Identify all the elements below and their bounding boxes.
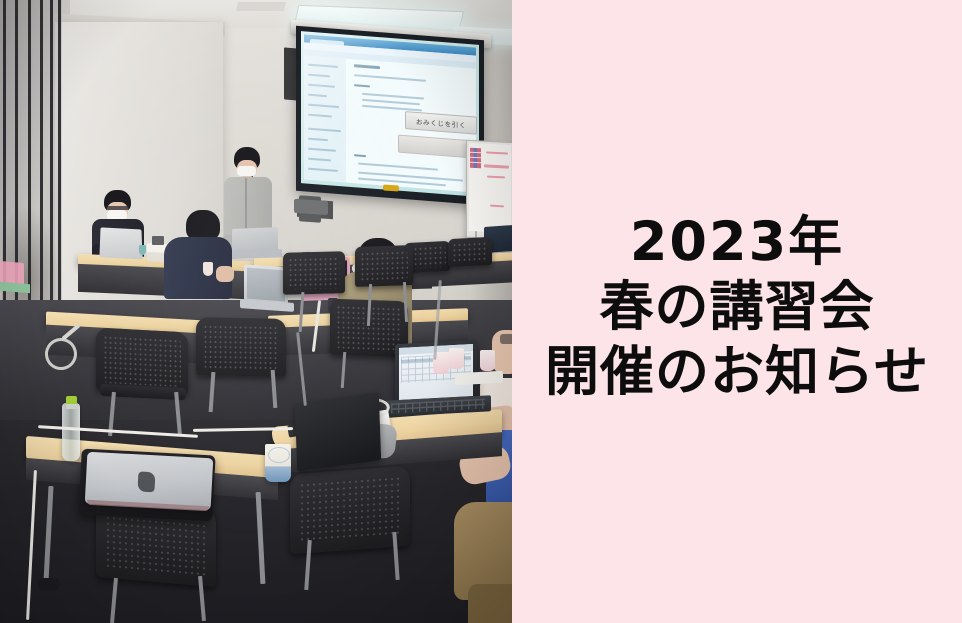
cup-logo <box>268 447 290 463</box>
webpage-body: おみくじを引く <box>304 55 476 192</box>
device-small <box>152 236 164 245</box>
keyboard-keys <box>391 399 485 414</box>
webpage-main: おみくじを引く <box>350 59 476 193</box>
paper-cup <box>203 262 213 276</box>
cup-teal <box>139 245 146 255</box>
water-bottle <box>62 403 80 461</box>
paper-sheet <box>455 371 503 386</box>
laptop-screen <box>247 268 285 302</box>
paper-cup-pink <box>480 350 495 371</box>
sticky-note-grid <box>470 148 481 169</box>
desk-caster <box>38 578 60 590</box>
headline-line-event: 春の講習会 <box>545 275 929 340</box>
projector-screen: おみくじを引く <box>301 31 479 197</box>
omikuji-draw-button[interactable]: おみくじを引く <box>405 111 477 135</box>
paper-cup-blue <box>265 444 291 482</box>
bottle-neck <box>66 404 77 409</box>
hand <box>216 266 234 282</box>
projector <box>294 199 328 215</box>
eyeglasses-icon <box>500 334 512 344</box>
chair <box>448 237 492 267</box>
tablet-black <box>295 392 381 471</box>
screen-pull-handle <box>383 184 399 191</box>
announcement-text-panel: 2023年 春の講習会 開催のお知らせ <box>512 0 962 623</box>
webpage-sidebar <box>304 55 346 182</box>
chair <box>283 251 345 295</box>
leg-lower <box>468 584 512 623</box>
chair <box>196 317 286 377</box>
headline-line-year: 2023年 <box>545 210 929 275</box>
hair <box>186 210 220 240</box>
headline-line-notice: 開催のお知らせ <box>545 340 929 405</box>
chair <box>355 245 413 287</box>
face-mask <box>237 166 256 176</box>
ceiling-vent <box>236 2 286 11</box>
paper-cup-pink <box>449 348 464 369</box>
seminar-room-photo: おみくじを引く <box>0 0 512 623</box>
page-title: 2023年 春の講習会 開催のお知らせ <box>545 210 929 404</box>
laptop-silver-open <box>99 227 142 259</box>
announcement-banner: おみくじを引く <box>0 0 962 623</box>
apple-logo-icon <box>137 471 155 492</box>
person-navy-back <box>164 210 234 302</box>
